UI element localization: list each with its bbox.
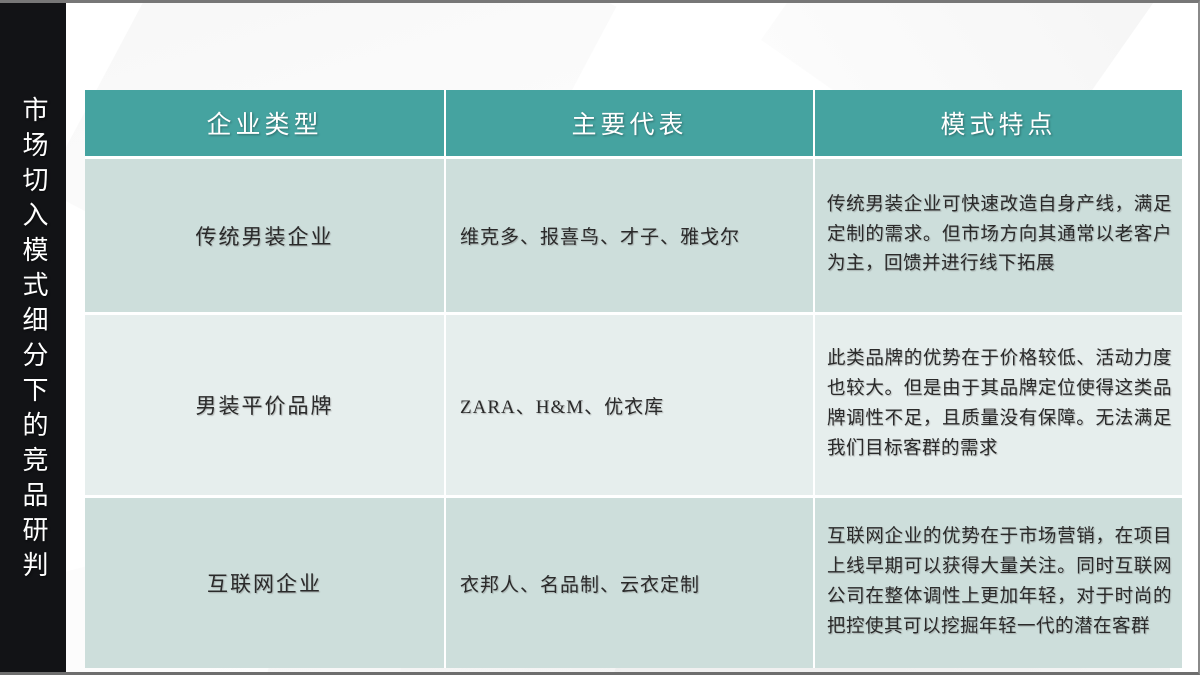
table-row: 互联网企业 衣邦人、名品制、云衣定制 互联网企业的优势在于市场营销，在项目上线早… xyxy=(85,495,1182,668)
cell-representatives: 维克多、报喜鸟、才子、雅戈尔 xyxy=(446,156,815,312)
cell-representatives: ZARA、H&M、优衣库 xyxy=(446,312,815,495)
comparison-table-container: 企业类型 主要代表 模式特点 传统男装企业 维克多、报喜鸟、才子、雅戈尔 传统男… xyxy=(85,90,1182,668)
cell-representatives: 衣邦人、名品制、云衣定制 xyxy=(446,495,815,668)
slide-vertical-title: 市场切入模式细分下的竞品研判 xyxy=(20,96,46,586)
cell-features: 传统男装企业可快速改造自身产线，满足定制的需求。但市场方向其通常以老客户为主，回… xyxy=(815,156,1182,312)
column-header-type: 企业类型 xyxy=(85,90,446,156)
cell-type: 传统男装企业 xyxy=(85,156,446,312)
column-header-features: 模式特点 xyxy=(815,90,1182,156)
slide-canvas: 市场切入模式细分下的竞品研判 企业类型 主要代表 模式特点 传统男装企业 维克多… xyxy=(0,0,1200,675)
table-header: 企业类型 主要代表 模式特点 xyxy=(85,90,1182,156)
column-header-representatives: 主要代表 xyxy=(446,90,815,156)
table-row: 男装平价品牌 ZARA、H&M、优衣库 此类品牌的优势在于价格较低、活动力度也较… xyxy=(85,312,1182,495)
comparison-table: 企业类型 主要代表 模式特点 传统男装企业 维克多、报喜鸟、才子、雅戈尔 传统男… xyxy=(85,90,1182,668)
cell-type: 互联网企业 xyxy=(85,495,446,668)
cell-features: 互联网企业的优势在于市场营销，在项目上线早期可以获得大量关注。同时互联网公司在整… xyxy=(815,495,1182,668)
slide-sidebar: 市场切入模式细分下的竞品研判 xyxy=(0,3,66,675)
table-row: 传统男装企业 维克多、报喜鸟、才子、雅戈尔 传统男装企业可快速改造自身产线，满足… xyxy=(85,156,1182,312)
table-header-row: 企业类型 主要代表 模式特点 xyxy=(85,90,1182,156)
cell-type: 男装平价品牌 xyxy=(85,312,446,495)
table-body: 传统男装企业 维克多、报喜鸟、才子、雅戈尔 传统男装企业可快速改造自身产线，满足… xyxy=(85,156,1182,668)
cell-features: 此类品牌的优势在于价格较低、活动力度也较大。但是由于其品牌定位使得这类品牌调性不… xyxy=(815,312,1182,495)
